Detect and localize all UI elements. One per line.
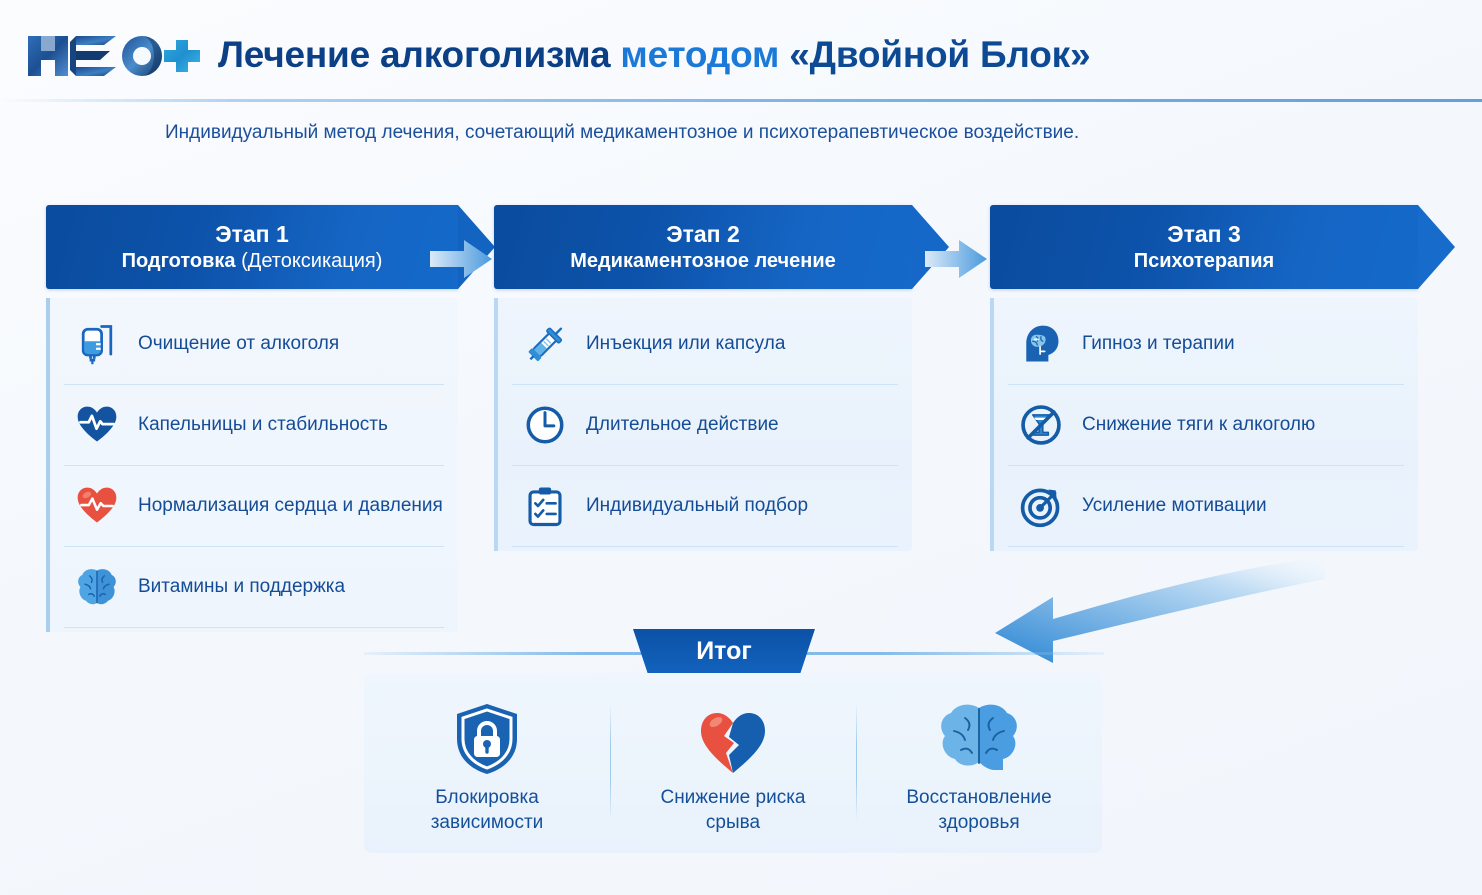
page-header: Лечение алкоголизма методом «Двойной Бло… [0,0,1482,100]
result-item-1-line1: Блокировка [435,787,539,808]
list-item[interactable]: Капельницы и стабильность [64,385,444,466]
neo-plus-logo-icon [24,30,204,80]
page-subtitle: Индивидуальный метод лечения, сочетающий… [165,122,1079,144]
page-title: Лечение алкоголизма методом «Двойной Бло… [218,30,1090,80]
title-part-2: методом [620,34,779,75]
clipboard-check-icon [520,481,570,531]
stage-1-name-suffix: (Детоксикация) [241,250,382,272]
list-item[interactable]: Витамины и поддержка [64,547,444,628]
stage-2-items: Инъекция или капсула Длительное действие [494,298,912,551]
broken-heart-icon [693,701,773,777]
result-item-1-line2: зависимости [431,812,544,833]
heart-pulse-red-icon [72,481,122,531]
list-item-label: Нормализация сердца и давления [138,495,443,517]
brain-icon [934,701,1024,777]
result-item-2-line2: срыва [706,812,760,833]
result-item-3[interactable]: Восстановление здоровья [856,697,1102,829]
stage-1-header: Этап 1 Подготовка (Детоксикация) [46,205,458,289]
no-alcohol-icon [1016,400,1066,450]
list-item[interactable]: Длительное действие [512,385,898,466]
syringe-icon [520,319,570,369]
list-item-label: Гипноз и терапии [1082,333,1235,355]
stage-card-1: Этап 1 Подготовка (Детоксикация) [46,205,458,632]
stage-1-name: Подготовка (Детоксикация) [122,248,383,274]
result-item-3-label: Восстановление здоровья [906,785,1051,835]
shield-lock-icon [452,701,522,777]
list-item[interactable]: Усиление мотивации [1008,466,1404,547]
target-dart-icon [1016,481,1066,531]
stage-2-number: Этап 2 [666,221,740,248]
title-part-3: «Двойной Блок» [789,34,1090,75]
heart-pulse-blue-icon [72,400,122,450]
stage-connector-arrow-2 [925,238,987,280]
header-divider [0,99,1482,102]
result-item-1-label: Блокировка зависимости [431,785,544,835]
stage-3-header: Этап 3 Психотерапия [990,205,1418,289]
stage-3-items: Гипноз и терапии Снижение тяги к алкогол… [990,298,1418,551]
list-item[interactable]: Индивидуальный подбор [512,466,898,547]
list-item[interactable]: Нормализация сердца и давления [64,466,444,547]
stage-3-number: Этап 3 [1167,221,1241,248]
stage-3-name: Психотерапия [1134,248,1274,274]
stage-card-2: Этап 2 Медикаментозное лечение [494,205,912,551]
list-item-label: Очищение от алкоголя [138,333,339,355]
result-item-2-line1: Снижение риска [660,787,805,808]
result-item-2[interactable]: Снижение риска срыва [610,697,856,829]
list-item-label: Длительное действие [586,414,779,436]
brain-icon [72,562,122,612]
result-item-3-line2: здоровья [938,812,1019,833]
stage-2-header: Этап 2 Медикаментозное лечение [494,205,912,289]
result-item-1[interactable]: Блокировка зависимости [364,697,610,829]
list-item-label: Усиление мотивации [1082,495,1267,517]
stage-connector-arrow-1 [430,238,492,280]
result-card: Блокировка зависимости Снижение риска ср… [364,673,1102,853]
stage-1-name-main: Подготовка [122,250,236,272]
list-item[interactable]: Снижение тяги к алкоголю [1008,385,1404,466]
iv-drip-icon [72,319,122,369]
infographic-root: Лечение алкоголизма методом «Двойной Бло… [0,0,1482,895]
list-item-label: Снижение тяги к алкоголю [1082,414,1315,436]
clock-icon [520,400,570,450]
result-item-2-label: Снижение риска срыва [660,785,805,835]
list-item[interactable]: Очищение от алкоголя [64,304,444,385]
result-item-3-line1: Восстановление [906,787,1051,808]
stage-1-items: Очищение от алкоголя Капельницы и стабил… [46,298,458,632]
title-part-1: Лечение алкоголизма [218,34,610,75]
list-item-label: Витамины и поддержка [138,576,345,598]
result-banner: Итог [633,629,815,673]
list-item-label: Капельницы и стабильность [138,414,388,436]
stage-1-number: Этап 1 [215,221,289,248]
list-item[interactable]: Гипноз и терапии [1008,304,1404,385]
head-brain-icon [1016,319,1066,369]
list-item[interactable]: Инъекция или капсула [512,304,898,385]
list-item-label: Индивидуальный подбор [586,495,808,517]
list-item-label: Инъекция или капсула [586,333,785,355]
stage-2-name: Медикаментозное лечение [570,248,836,274]
stage-card-3: Этап 3 Психотерапия Гипноз и терапи [990,205,1418,551]
